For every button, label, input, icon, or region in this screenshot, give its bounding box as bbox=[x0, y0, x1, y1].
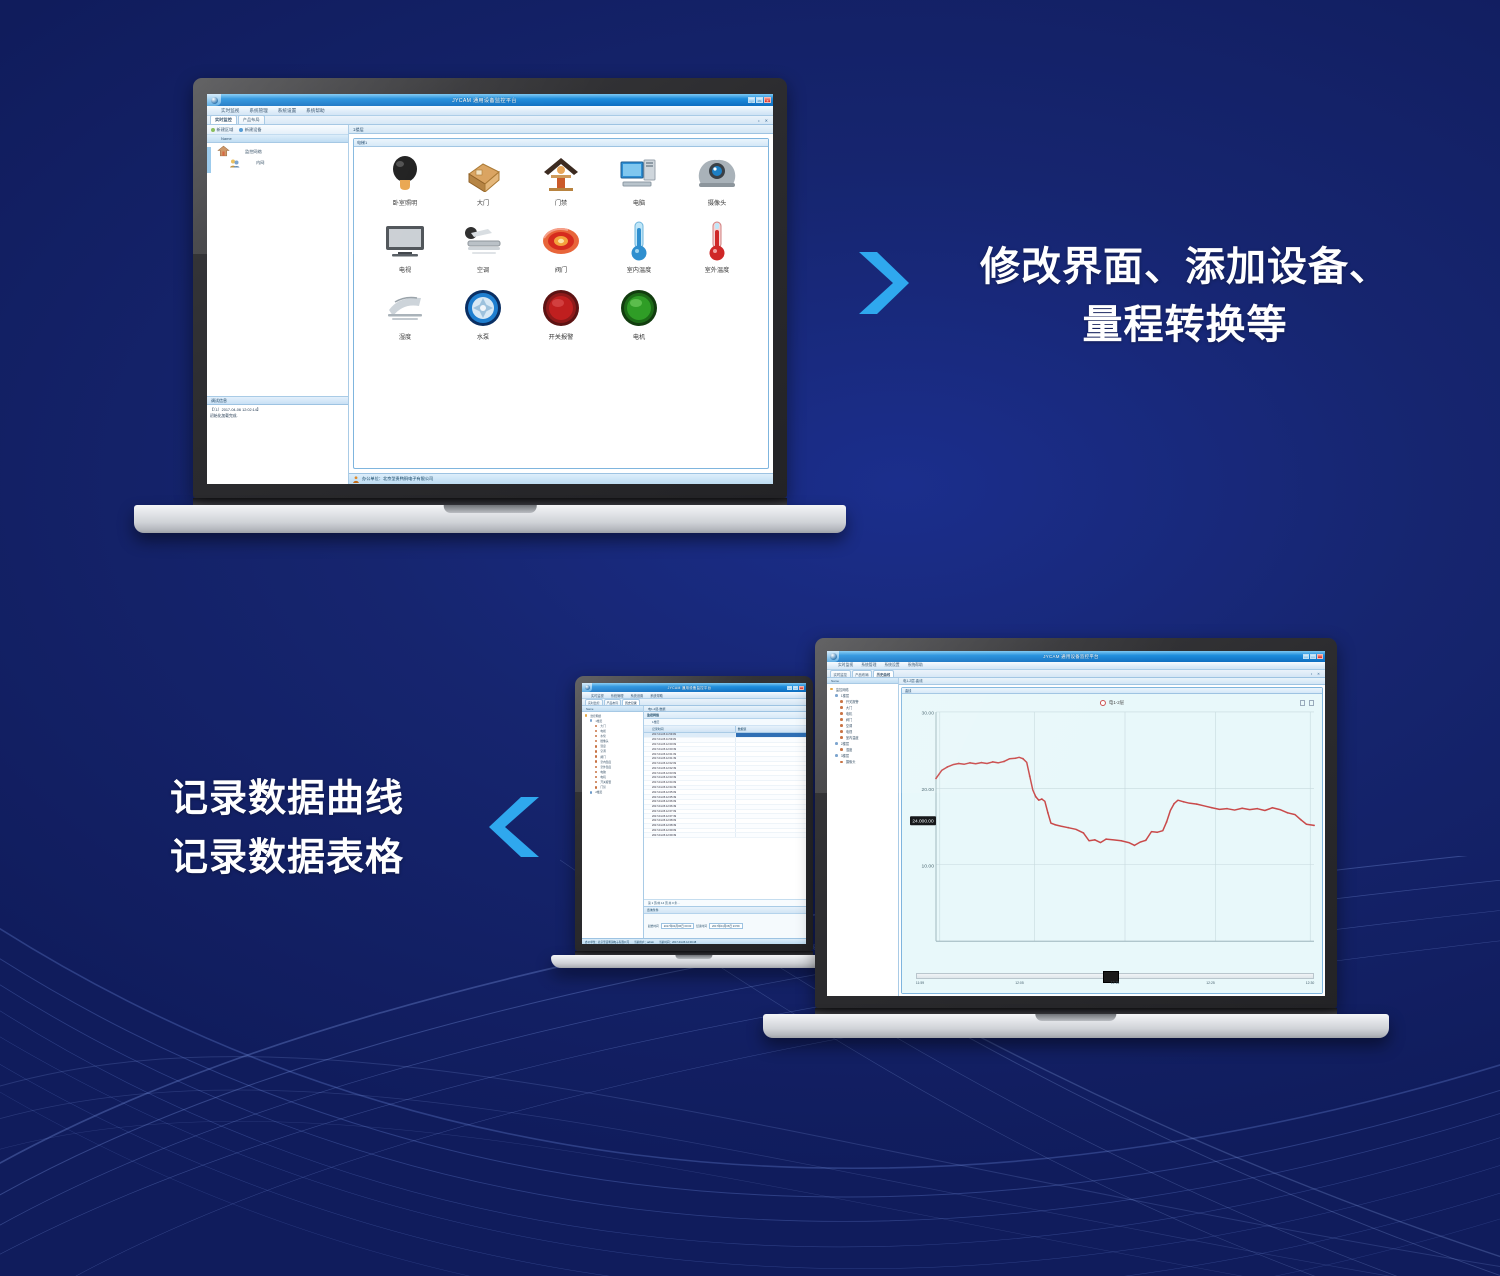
table-tabstrip[interactable]: 实时监控 产品布局 历史记录 bbox=[582, 699, 806, 706]
table-row[interactable]: 2017-04-06 12:09:39 bbox=[644, 833, 806, 838]
laptop-curve: JYCAM 通用设备监控平台 实时监视 系统管理 系统设置 系统帮助 实时监控 … bbox=[815, 638, 1389, 1038]
device-air-conditioner[interactable]: 空调 bbox=[444, 220, 522, 287]
table-menubar[interactable]: 实时监视 系统管理 系统设置 系统帮助 bbox=[582, 692, 806, 699]
table-cell-time: 2017-04-06 12:08:09 bbox=[644, 819, 735, 823]
callout-bottom-text: 记录数据曲线 记录数据表格 bbox=[170, 770, 470, 888]
tree-item[interactable]: 摄像头 bbox=[827, 759, 898, 765]
tree-item[interactable]: 2楼层 bbox=[582, 790, 643, 795]
tree-item-intranet[interactable]: 内网 bbox=[207, 157, 348, 168]
monitor-tabstrip[interactable]: 实时监控 产品布局 • ✕ bbox=[207, 116, 773, 125]
laptop-table: JYCAM 通用设备监控平台 实时监视 系统管理 系统设置 系统帮助 实时监控 … bbox=[575, 676, 837, 968]
table-rows-container[interactable]: 2017-04-06 11:59:092017-04-06 11:59:3920… bbox=[644, 733, 806, 899]
tree-item-label: 室外温度 bbox=[600, 765, 611, 769]
monitor-footer: 办公单位：北京型贵鸭铜电子有限公司 bbox=[349, 473, 773, 484]
window-controls[interactable] bbox=[1303, 654, 1325, 659]
device-label: 水泵 bbox=[477, 332, 489, 341]
sidebar-column-header: Name bbox=[207, 135, 348, 143]
status-company: 办公单位：北京型贵鸭铜电子有限公司 bbox=[585, 940, 629, 944]
device-outdoor-temperature[interactable]: 室外温度 bbox=[678, 220, 756, 287]
table-cell-value bbox=[735, 824, 806, 828]
debug-log-line-2: 初始化加载完成. bbox=[210, 414, 345, 420]
tree-item-label: 阀门 bbox=[600, 755, 605, 759]
device-icon bbox=[595, 740, 597, 742]
device-icon bbox=[595, 730, 597, 732]
table-window-title: JYCAM 通用设备监控平台 bbox=[592, 685, 787, 690]
maximize-button[interactable] bbox=[793, 686, 798, 690]
tab-history-curve[interactable]: 历史曲线 bbox=[873, 670, 894, 677]
curve-menubar[interactable]: 实时监视 系统管理 系统设置 系统帮助 bbox=[827, 662, 1325, 670]
minimize-button[interactable] bbox=[787, 686, 792, 690]
table-cell-time: 2017-04-06 12:06:39 bbox=[644, 805, 735, 809]
device-label: 摄像头 bbox=[708, 198, 727, 207]
laptop-hinge bbox=[193, 498, 787, 505]
table-cell-value bbox=[735, 733, 806, 737]
close-button[interactable]: ✕ bbox=[764, 97, 771, 103]
laptop-base bbox=[551, 955, 837, 968]
device-indoor-temperature[interactable]: 室内温度 bbox=[600, 220, 678, 287]
table-cell-value bbox=[735, 833, 806, 837]
sidebar-toolbar[interactable]: 新建区域 新建设备 bbox=[207, 125, 348, 135]
table-cell-value bbox=[735, 814, 806, 818]
water-pump-icon bbox=[464, 287, 502, 329]
minimize-button[interactable]: _ bbox=[748, 97, 755, 103]
content-tab-curve[interactable]: 电1-2层-曲线 bbox=[899, 678, 1325, 685]
menu-item-system-manage[interactable]: 系统管理 bbox=[611, 693, 624, 698]
device-tree[interactable]: 监控网络1楼层大门电视水泵摄像头湿度空调阀门室内温度室外温度电脑电机开关报警门禁… bbox=[582, 712, 643, 938]
motor-green-icon bbox=[620, 287, 658, 329]
company-icon bbox=[353, 476, 359, 483]
app-logo-icon bbox=[207, 94, 221, 106]
laptop-base bbox=[763, 1014, 1389, 1038]
table-cell-time: 2017-04-06 12:02:39 bbox=[644, 766, 735, 770]
chart-plot: 30.0020.0010.0024.000.00 bbox=[902, 694, 1322, 993]
device-icon bbox=[595, 760, 597, 762]
network-icon bbox=[585, 714, 587, 716]
tree-item-label: 空调 bbox=[846, 723, 852, 728]
device-group-label: 电梯1 bbox=[354, 139, 768, 147]
tree-item-label: 摄像头 bbox=[600, 739, 608, 743]
menu-item-system-settings[interactable]: 系统设置 bbox=[631, 693, 644, 698]
maximize-button[interactable]: ▭ bbox=[756, 97, 763, 103]
table-cell-value bbox=[735, 743, 806, 747]
air-conditioner-icon bbox=[462, 220, 504, 262]
table-cell-time: 2017-04-06 12:01:09 bbox=[644, 752, 735, 756]
new-area-button[interactable]: 新建区域 bbox=[211, 127, 233, 133]
device-television[interactable]: 电视 bbox=[366, 220, 444, 287]
table-app-screen: JYCAM 通用设备监控平台 实时监视 系统管理 系统设置 系统帮助 实时监控 … bbox=[582, 683, 806, 944]
tree-item-label: 电脑 bbox=[600, 770, 605, 774]
curve-content: 电1-2层-曲线 曲线 电1-2层 bbox=[899, 678, 1325, 996]
callout-arrow-right bbox=[855, 250, 913, 321]
tree-item-label: 电机 bbox=[600, 775, 605, 779]
curve-app-screen: JYCAM 通用设备监控平台 实时监视 系统管理 系统设置 系统帮助 实时监控 … bbox=[827, 651, 1325, 996]
monitor-titlebar: JYCAM 通用设备监控平台 _ ▭ ✕ bbox=[207, 94, 773, 106]
table-cell-value bbox=[735, 786, 806, 790]
device-icon bbox=[595, 750, 597, 752]
add-area-icon bbox=[211, 128, 215, 132]
monitor-app-window: JYCAM 通用设备监控平台 _ ▭ ✕ 实时监视 系统管理 系统设置 系统帮助… bbox=[207, 94, 773, 484]
device-tree[interactable]: 监控网络1楼层开关报警大门电机阀门空调电视室内温度2楼层湿度3楼层摄像头 bbox=[827, 684, 898, 996]
device-lightbulb[interactable]: 卧室照明 bbox=[366, 153, 444, 220]
tree-item-label: 摄像头 bbox=[846, 759, 856, 764]
device-icon bbox=[595, 745, 597, 747]
table-cell-time: 2017-04-06 12:04:39 bbox=[644, 786, 735, 790]
device-icon bbox=[840, 706, 843, 709]
table-cell-time: 2017-04-06 12:07:09 bbox=[644, 810, 735, 814]
table-app-window: JYCAM 通用设备监控平台 实时监视 系统管理 系统设置 系统帮助 实时监控 … bbox=[582, 683, 806, 944]
tree-item-label: 大门 bbox=[600, 724, 605, 728]
table-sidebar: Name 监控网络1楼层大门电视水泵摄像头湿度空调阀门室内温度室外温度电脑电机开… bbox=[582, 706, 644, 938]
table-titlebar: JYCAM 通用设备监控平台 bbox=[582, 683, 806, 692]
laptop-lid: JYCAM 通用设备监控平台 实时监视 系统管理 系统设置 系统帮助 实时监控 … bbox=[815, 638, 1337, 1008]
chart-y-tick-label: 10.00 bbox=[921, 863, 934, 869]
device-valve[interactable]: 阀门 bbox=[522, 220, 600, 287]
device-label: 电机 bbox=[633, 332, 645, 341]
tree-item-label: 监控网络 bbox=[590, 714, 601, 718]
tab-product-layout[interactable]: 产品布局 bbox=[852, 670, 873, 677]
table-cell-value bbox=[735, 781, 806, 785]
device-icon bbox=[595, 735, 597, 737]
table-cell-value bbox=[735, 790, 806, 794]
tree-item-label: 2楼层 bbox=[595, 790, 602, 794]
tree-item-label: 湿度 bbox=[846, 747, 852, 752]
table-cell-value bbox=[735, 805, 806, 809]
chart-x-tick-label: 12:30 bbox=[1306, 981, 1315, 985]
chart-y-tick-label: 20.00 bbox=[921, 787, 934, 793]
tree-item-label: 开关报警 bbox=[846, 699, 859, 704]
table-cell-time: 2017-04-06 12:06:09 bbox=[644, 800, 735, 804]
monitor-window-title: JYCAM 通用设备监控平台 bbox=[221, 97, 748, 104]
device-label: 电脑 bbox=[633, 198, 645, 207]
new-device-label: 新建设备 bbox=[245, 127, 262, 133]
device-icon bbox=[840, 718, 843, 721]
chart-x-axis-labels: 11:5912:0512:1512:2512:30 bbox=[916, 981, 1314, 990]
device-humidity[interactable]: 湿度 bbox=[366, 287, 444, 354]
device-icon-grid[interactable]: 卧室照明 大门 门禁 电脑 bbox=[354, 147, 768, 468]
tab-product-layout[interactable]: 产品布局 bbox=[604, 699, 622, 705]
table-cell-value bbox=[735, 819, 806, 823]
table-cell-time: 2017-04-06 12:09:39 bbox=[644, 833, 735, 837]
table-column-time: 记录时间 bbox=[644, 726, 735, 732]
device-label: 阀门 bbox=[555, 265, 567, 274]
thermometer-blue-icon bbox=[629, 220, 649, 262]
query-panel: 查询条件 起始时间 2017年04月06日 00:00 结束时间 2017年04… bbox=[644, 906, 806, 938]
tree-item-label: 室内温度 bbox=[600, 760, 611, 764]
close-button[interactable] bbox=[799, 686, 804, 690]
device-icon bbox=[840, 736, 843, 739]
history-curve-chart[interactable]: 电1-2层 30.0020.0010.0024.000.00 bbox=[902, 694, 1322, 993]
access-control-icon bbox=[541, 153, 581, 195]
table-cell-value bbox=[735, 752, 806, 756]
tree-item-label: 水泵 bbox=[600, 734, 605, 738]
tabstrip-close-controls[interactable]: • ✕ bbox=[758, 118, 770, 123]
tree-item-label: 2楼层 bbox=[841, 741, 849, 746]
table-cell-value bbox=[735, 747, 806, 751]
table-cell-value bbox=[735, 771, 806, 775]
tree-item-label: 3楼层 bbox=[841, 753, 849, 758]
table-cell-time: 2017-04-06 11:59:09 bbox=[644, 733, 735, 737]
tree-item-label: 电机 bbox=[846, 711, 852, 716]
device-icon bbox=[840, 700, 843, 703]
device-label: 室外温度 bbox=[705, 265, 730, 274]
table-cell-value bbox=[735, 738, 806, 742]
close-button[interactable] bbox=[1317, 654, 1323, 659]
table-cell-value bbox=[735, 762, 806, 766]
table-cell-value bbox=[735, 810, 806, 814]
query-start-label: 起始时间 bbox=[648, 924, 659, 928]
tree-item-label: 监控网络 bbox=[836, 687, 849, 692]
window-controls[interactable]: _ ▭ ✕ bbox=[748, 97, 773, 103]
tree-selection-indicator bbox=[207, 147, 211, 173]
device-label: 开关报警 bbox=[549, 332, 574, 341]
device-icon bbox=[840, 724, 843, 727]
camera-icon bbox=[698, 153, 736, 195]
query-end-label: 结束时间 bbox=[696, 924, 707, 928]
table-column-value: 数据值 bbox=[735, 726, 806, 732]
device-label: 空调 bbox=[477, 265, 489, 274]
table-cell-time: 2017-04-06 12:01:39 bbox=[644, 757, 735, 761]
monitor-footer-text: 办公单位：北京型贵鸭铜电子有限公司 bbox=[362, 476, 433, 482]
device-access-control[interactable]: 门禁 bbox=[522, 153, 600, 220]
content-tab-floor1[interactable]: 1楼层 bbox=[349, 125, 773, 134]
device-icon bbox=[595, 781, 597, 783]
chart-x-tick-label: 12:25 bbox=[1206, 981, 1215, 985]
device-camera[interactable]: 摄像头 bbox=[678, 153, 756, 220]
menu-item-system-manage[interactable]: 系统管理 bbox=[249, 108, 267, 114]
thermometer-red-icon bbox=[707, 220, 727, 262]
table-paging[interactable]: 第 1 页/共 14 页 共 0 条... bbox=[644, 899, 806, 906]
chart-cursor-label: 24.000.00 bbox=[912, 819, 934, 825]
device-label: 湿度 bbox=[399, 332, 411, 341]
status-time: 当前时间：2017-04-06 12:09:48 bbox=[659, 940, 696, 944]
device-label: 大门 bbox=[477, 198, 489, 207]
tree-item-label: 1楼层 bbox=[841, 693, 849, 698]
curve-tabstrip[interactable]: 实时监控 产品布局 历史曲线 • ✕ bbox=[827, 670, 1325, 678]
table-cell-time: 2017-04-06 12:07:39 bbox=[644, 814, 735, 818]
tree-item-label: 电视 bbox=[846, 729, 852, 734]
tabstrip-close-controls[interactable]: • ✕ bbox=[1311, 672, 1322, 676]
debug-log-body: 【（1）2017-04-06 12:02:14】 初始化加载完成. bbox=[207, 405, 348, 484]
new-area-label: 新建区域 bbox=[217, 127, 234, 133]
device-icon bbox=[595, 776, 597, 778]
callout-arrow-left bbox=[487, 795, 543, 864]
query-start-input[interactable]: 2017年04月06日 00:00 bbox=[661, 923, 695, 929]
tree-item-label: 开关报警 bbox=[600, 780, 611, 784]
chart-y-tick-label: 30.00 bbox=[921, 711, 934, 717]
menu-item-realtime[interactable]: 实时监视 bbox=[221, 108, 239, 114]
monitor-app-screen: JYCAM 通用设备监控平台 _ ▭ ✕ 实时监视 系统管理 系统设置 系统帮助… bbox=[207, 94, 773, 484]
tree-item-label: 门禁 bbox=[600, 785, 605, 789]
laptop-monitor: JYCAM 通用设备监控平台 _ ▭ ✕ 实时监视 系统管理 系统设置 系统帮助… bbox=[193, 78, 846, 533]
table-sub-label: 1楼层 bbox=[644, 719, 806, 726]
callout-bottom-line-1: 记录数据曲线 bbox=[170, 770, 470, 829]
device-label: 门禁 bbox=[555, 198, 567, 207]
tree-item-label: 室内温度 bbox=[846, 735, 859, 740]
table-body: Name 监控网络1楼层大门电视水泵摄像头湿度空调阀门室内温度室外温度电脑电机开… bbox=[582, 706, 806, 938]
callout-top-text: 修改界面、添加设备、 量程转换等 bbox=[935, 238, 1435, 354]
folder-icon bbox=[835, 694, 838, 697]
menu-item-realtime[interactable]: 实时监视 bbox=[838, 663, 853, 668]
device-gate[interactable]: 大门 bbox=[444, 153, 522, 220]
alarm-red-icon bbox=[542, 287, 580, 329]
table-cell-time: 2017-04-06 11:59:39 bbox=[644, 738, 735, 742]
laptop-base bbox=[134, 505, 846, 533]
menu-item-realtime[interactable]: 实时监视 bbox=[591, 693, 604, 698]
device-icon bbox=[840, 712, 843, 715]
menu-item-system-settings[interactable]: 系统设置 bbox=[884, 663, 899, 668]
table-content: 电1-2层-数据 监控网络 1楼层 记录时间 数据值 2017-04-06 11… bbox=[644, 706, 806, 938]
device-group-panel: 电梯1 卧室照明 大门 门禁 bbox=[353, 138, 769, 469]
monitor-content: 1楼层 电梯1 卧室照明 大门 bbox=[349, 125, 773, 484]
table-cell-time: 2017-04-06 12:05:09 bbox=[644, 790, 735, 794]
curve-body: Name 监控网络1楼层开关报警大门电机阀门空调电视室内温度2楼层湿度3楼层摄像… bbox=[827, 678, 1325, 996]
debug-log-header: 调试信息 bbox=[207, 397, 348, 405]
query-panel-header: 查询条件 bbox=[644, 907, 806, 914]
curve-titlebar: JYCAM 通用设备监控平台 bbox=[827, 651, 1325, 662]
callout-top-line-1: 修改界面、添加设备、 bbox=[935, 238, 1435, 296]
debug-log-panel: 调试信息 【（1）2017-04-06 12:02:14】 初始化加载完成. bbox=[207, 396, 348, 484]
device-label: 室内温度 bbox=[627, 265, 652, 274]
table-cell-value bbox=[735, 800, 806, 804]
minimize-button[interactable] bbox=[1303, 654, 1309, 659]
chart-x-tick-label: 11:59 bbox=[916, 981, 924, 985]
device-water-pump[interactable]: 水泵 bbox=[444, 287, 522, 354]
table-cell-value bbox=[735, 757, 806, 761]
tree-item-label: 湿度 bbox=[600, 744, 605, 748]
device-icon bbox=[595, 725, 597, 727]
tab-product-layout[interactable]: 产品布局 bbox=[238, 115, 265, 124]
laptop-lid: JYCAM 通用设备监控平台 _ ▭ ✕ 实时监视 系统管理 系统设置 系统帮助… bbox=[193, 78, 787, 498]
device-motor[interactable]: 电机 bbox=[600, 287, 678, 354]
table-cell-value bbox=[735, 829, 806, 833]
tab-realtime-monitor[interactable]: 实时监控 bbox=[210, 115, 237, 124]
valve-icon bbox=[542, 220, 580, 262]
table-cell-time: 2017-04-06 12:03:39 bbox=[644, 776, 735, 780]
add-device-icon bbox=[239, 128, 243, 132]
tree-item-intranet-label: 内网 bbox=[256, 160, 264, 166]
table-cell-time: 2017-04-06 12:04:09 bbox=[644, 781, 735, 785]
table-cell-time: 2017-04-06 12:02:09 bbox=[644, 762, 735, 766]
device-alarm-switch[interactable]: 开关报警 bbox=[522, 287, 600, 354]
tree-item-label: 空调 bbox=[600, 749, 605, 753]
menu-item-help[interactable]: 系统帮助 bbox=[306, 108, 324, 114]
curve-group-panel: 曲线 电1-2层 30.0020.0010.0024 bbox=[901, 687, 1323, 994]
folder-icon bbox=[835, 754, 838, 757]
maximize-button[interactable] bbox=[1310, 654, 1316, 659]
lightbulb-icon bbox=[388, 153, 422, 195]
table-statusbar: 办公单位：北京型贵鸭铜电子有限公司 当前用户：admin 当前时间：2017-0… bbox=[582, 938, 806, 944]
table-cell-time: 2017-04-06 12:03:09 bbox=[644, 771, 735, 775]
laptop-lid: JYCAM 通用设备监控平台 实时监视 系统管理 系统设置 系统帮助 实时监控 … bbox=[575, 676, 813, 951]
menu-item-system-manage[interactable]: 系统管理 bbox=[861, 663, 876, 668]
table-cell-value bbox=[735, 776, 806, 780]
callout-bottom-line-2: 记录数据表格 bbox=[170, 829, 470, 888]
device-tree[interactable]: 监控网络 内网 bbox=[207, 143, 348, 396]
computer-icon bbox=[619, 153, 659, 195]
tree-item-label: 1楼层 bbox=[595, 719, 602, 723]
app-logo-icon bbox=[582, 683, 592, 692]
folder-icon bbox=[835, 742, 838, 745]
table-cell-value bbox=[735, 795, 806, 799]
tree-item-label: 阀门 bbox=[846, 717, 852, 722]
app-logo-icon bbox=[827, 651, 839, 662]
tree-item-label: 大门 bbox=[846, 705, 852, 710]
monitor-sidebar: 新建区域 新建设备 Name bbox=[207, 125, 349, 484]
device-icon bbox=[595, 786, 597, 788]
group-icon bbox=[229, 157, 241, 169]
curve-sidebar: Name 监控网络1楼层开关报警大门电机阀门空调电视室内温度2楼层湿度3楼层摄像… bbox=[827, 678, 899, 996]
folder-icon bbox=[590, 719, 592, 721]
table-section-label: 监控网络 bbox=[644, 712, 806, 719]
table-cell-time: 2017-04-06 12:05:39 bbox=[644, 795, 735, 799]
network-icon bbox=[830, 688, 833, 691]
table-cell-value bbox=[735, 766, 806, 770]
callout-top-line-2: 量程转换等 bbox=[935, 296, 1435, 354]
device-icon bbox=[840, 761, 843, 764]
device-icon bbox=[595, 771, 597, 773]
tree-item-network[interactable]: 监控网络 bbox=[207, 146, 348, 157]
menu-item-system-settings[interactable]: 系统设置 bbox=[278, 108, 296, 114]
menu-item-help[interactable]: 系统帮助 bbox=[908, 663, 923, 668]
tab-realtime-monitor[interactable]: 实时监控 bbox=[830, 670, 851, 677]
device-icon bbox=[595, 766, 597, 768]
device-icon bbox=[840, 730, 843, 733]
table-cell-time: 2017-04-06 12:09:09 bbox=[644, 829, 735, 833]
chart-x-tick-label: 12:05 bbox=[1015, 981, 1024, 985]
menu-item-help[interactable]: 系统帮助 bbox=[650, 693, 663, 698]
window-controls[interactable] bbox=[787, 686, 806, 690]
tree-item-network-label: 监控网络 bbox=[245, 149, 262, 155]
monitor-menubar[interactable]: 实时监视 系统管理 系统设置 系统帮助 bbox=[207, 106, 773, 116]
tree-item-label: 电视 bbox=[600, 729, 605, 733]
device-icon bbox=[840, 748, 843, 751]
table-cell-time: 2017-04-06 12:00:39 bbox=[644, 747, 735, 751]
chart-x-tick-label: 12:15 bbox=[1111, 981, 1120, 985]
folder-icon bbox=[590, 791, 592, 793]
chart-horizontal-scrollbar[interactable] bbox=[916, 973, 1314, 979]
monitor-body: 新建区域 新建设备 Name bbox=[207, 125, 773, 484]
status-user: 当前用户：admin bbox=[634, 940, 654, 944]
device-label: 电视 bbox=[399, 265, 411, 274]
device-computer[interactable]: 电脑 bbox=[600, 153, 678, 220]
device-label: 卧室照明 bbox=[393, 198, 418, 207]
table-cell-time: 2017-04-06 12:00:09 bbox=[644, 743, 735, 747]
curve-window-title: JYCAM 通用设备监控平台 bbox=[839, 654, 1303, 660]
table-cell-time: 2017-04-06 12:08:39 bbox=[644, 824, 735, 828]
tab-history-records[interactable]: 历史记录 bbox=[622, 699, 640, 705]
device-icon bbox=[595, 755, 597, 757]
television-icon bbox=[384, 220, 426, 262]
new-device-button[interactable]: 新建设备 bbox=[239, 127, 261, 133]
gate-icon bbox=[463, 153, 503, 195]
tab-realtime-monitor[interactable]: 实时监控 bbox=[585, 699, 603, 705]
humidity-icon bbox=[385, 287, 425, 329]
query-end-input[interactable]: 2017年04月06日 23:59 bbox=[709, 923, 743, 929]
curve-app-window: JYCAM 通用设备监控平台 实时监视 系统管理 系统设置 系统帮助 实时监控 … bbox=[827, 651, 1325, 996]
